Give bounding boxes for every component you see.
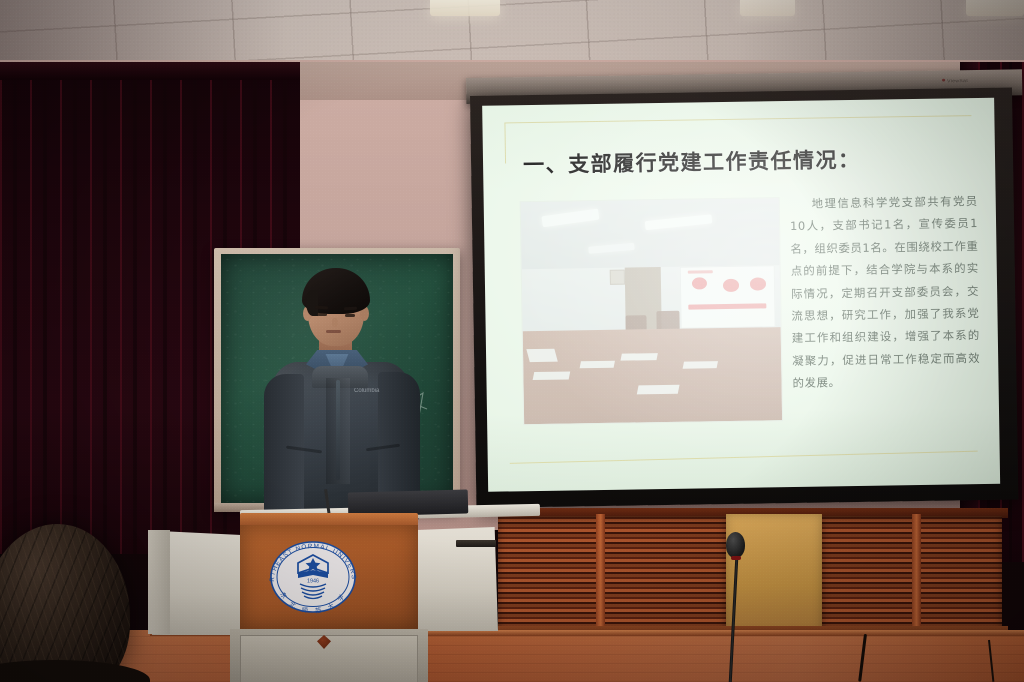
university-emblem: NORTHEAST NORMAL UNIVERSITY 东 北 师 范 大 学 … — [260, 537, 366, 617]
presenter-eye — [345, 314, 355, 317]
photo-paper — [620, 353, 658, 361]
slat-panel-post — [912, 514, 921, 634]
floor-microphone-stand — [724, 518, 752, 682]
svg-text:1946: 1946 — [307, 579, 319, 585]
presenter-nose — [332, 318, 338, 327]
photo-red-circle — [692, 278, 707, 290]
photo-red-circle — [723, 278, 740, 291]
lecture-hall-photo: ViewSat 一、支部履行党建工作责任情况： — [0, 0, 1024, 682]
photo-wall-frame — [609, 269, 624, 285]
mic-stand-rod — [728, 544, 739, 682]
presenter-mouth — [326, 330, 341, 333]
photo-red-bar — [689, 303, 767, 310]
photo-paper — [636, 384, 679, 394]
photo-red-circle — [750, 277, 767, 290]
svg-text:Columbia: Columbia — [354, 388, 380, 393]
projection-screen: 一、支部履行党建工作责任情况： — [470, 87, 1018, 507]
slide-embedded-photo — [520, 197, 783, 425]
curtain-valance — [0, 62, 300, 80]
jacket-brand-logo-icon: Columbia — [354, 386, 380, 393]
photo-paper — [682, 361, 717, 369]
photo-paper — [533, 371, 571, 380]
microphone-icon — [726, 532, 745, 558]
slat-panel-post — [596, 514, 605, 634]
slide-divider-line — [510, 451, 978, 464]
photo-paper — [579, 361, 614, 369]
slide-body-text: 地理信息科学党支部共有党员10人，支部书记1名，宣传委员1名，组织委员1名。在围… — [790, 190, 981, 395]
foreground-cabinet — [148, 530, 170, 634]
presenter-hair — [302, 268, 370, 314]
wooden-slat-panel-left — [498, 516, 726, 632]
photo-paper — [527, 349, 559, 362]
presenter: Columbia — [256, 262, 432, 520]
photo-conference-table — [523, 327, 782, 424]
lectern: NORTHEAST NORMAL UNIVERSITY 东 北 师 范 大 学 … — [152, 513, 496, 682]
photo-projection-screen — [680, 265, 776, 328]
lectern-equipment-slot — [456, 540, 496, 547]
photo-red-bar — [688, 270, 712, 273]
mic-collar-ring — [731, 556, 741, 560]
slide-title: 一、支部履行党建工作责任情况： — [523, 144, 861, 179]
brand-dot-icon — [942, 79, 945, 82]
presenter-eye — [317, 313, 327, 316]
presentation-slide: 一、支部履行党建工作责任情况： — [482, 98, 1000, 492]
presenter-jacket-zipper — [336, 380, 340, 480]
screen-brand-label: ViewSat — [942, 78, 968, 84]
